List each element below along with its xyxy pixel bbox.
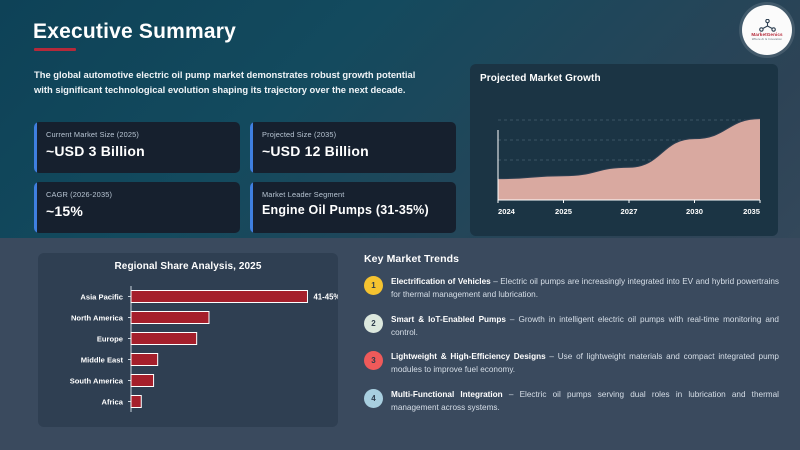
metric-value: Engine Oil Pumps (31-35%) bbox=[262, 203, 456, 217]
trend-text: Smart & IoT-Enabled Pumps – Growth in in… bbox=[391, 313, 779, 340]
company-logo: MarketGenics Where Ai Is Innovation bbox=[742, 5, 792, 55]
svg-text:2024: 2024 bbox=[498, 207, 516, 216]
trend-number-badge: 2 bbox=[364, 314, 383, 333]
trends-title: Key Market Trends bbox=[364, 253, 784, 265]
projected-market-growth-panel: Projected Market Growth 2024202520272030… bbox=[470, 64, 778, 236]
metric-value: ~USD 3 Billion bbox=[46, 143, 240, 159]
growth-chart-title: Projected Market Growth bbox=[480, 73, 768, 84]
trend-item: 3Lightweight & High-Efficiency Designs –… bbox=[364, 350, 784, 377]
svg-text:2030: 2030 bbox=[686, 207, 703, 216]
trend-number-badge: 1 bbox=[364, 276, 383, 295]
title-underline-accent bbox=[34, 48, 76, 51]
trend-title: Smart & IoT-Enabled Pumps bbox=[391, 315, 506, 324]
regional-chart-title: Regional Share Analysis, 2025 bbox=[38, 261, 338, 272]
svg-text:2025: 2025 bbox=[555, 207, 573, 216]
svg-text:41-45%: 41-45% bbox=[313, 293, 338, 302]
page-title: Executive Summary bbox=[33, 20, 236, 44]
metric-label: Current Market Size (2025) bbox=[46, 130, 240, 139]
trend-number-badge: 3 bbox=[364, 351, 383, 370]
logo-tagline: Where Ai Is Innovation bbox=[752, 38, 782, 41]
regional-bar-chart: Asia Pacific41-45%North AmericaEuropeMid… bbox=[38, 280, 338, 420]
metric-card-row-1: Current Market Size (2025) ~USD 3 Billio… bbox=[34, 122, 456, 173]
trend-item: 1Electrification of Vehicles – Electric … bbox=[364, 275, 784, 302]
metric-card-projected-size: Projected Size (2035) ~USD 12 Billion bbox=[250, 122, 456, 173]
svg-text:Asia Pacific: Asia Pacific bbox=[80, 293, 123, 302]
trend-item: 2Smart & IoT-Enabled Pumps – Growth in i… bbox=[364, 313, 784, 340]
svg-text:North America: North America bbox=[71, 314, 124, 323]
trend-item: 4Multi-Functional Integration – Electric… bbox=[364, 388, 784, 415]
metric-cards: Current Market Size (2025) ~USD 3 Billio… bbox=[34, 122, 456, 242]
trend-text: Multi-Functional Integration – Electric … bbox=[391, 388, 779, 415]
trend-text: Electrification of Vehicles – Electric o… bbox=[391, 275, 779, 302]
trend-text: Lightweight & High-Efficiency Designs – … bbox=[391, 350, 779, 377]
network-node-icon bbox=[759, 19, 776, 33]
trend-title: Lightweight & High-Efficiency Designs bbox=[391, 352, 546, 361]
trend-title: Electrification of Vehicles bbox=[391, 277, 491, 286]
regional-share-panel: Regional Share Analysis, 2025 Asia Pacif… bbox=[38, 253, 338, 427]
svg-text:South America: South America bbox=[70, 377, 124, 386]
trend-title: Multi-Functional Integration bbox=[391, 390, 503, 399]
svg-text:2035: 2035 bbox=[743, 207, 761, 216]
metric-card-market-leader-segment: Market Leader Segment Engine Oil Pumps (… bbox=[250, 182, 456, 233]
trend-number-badge: 4 bbox=[364, 389, 383, 408]
svg-text:Middle East: Middle East bbox=[81, 356, 124, 365]
metric-label: Projected Size (2035) bbox=[262, 130, 456, 139]
svg-text:Europe: Europe bbox=[97, 335, 123, 344]
metric-value: ~USD 12 Billion bbox=[262, 143, 456, 159]
trend-list: 1Electrification of Vehicles – Electric … bbox=[364, 275, 784, 414]
metric-label: CAGR (2026-2035) bbox=[46, 190, 240, 199]
metric-card-current-market-size: Current Market Size (2025) ~USD 3 Billio… bbox=[34, 122, 240, 173]
metric-card-cagr: CAGR (2026-2035) ~15% bbox=[34, 182, 240, 233]
metric-value: ~15% bbox=[46, 203, 240, 219]
svg-text:2027: 2027 bbox=[621, 207, 638, 216]
metric-label: Market Leader Segment bbox=[262, 190, 456, 199]
intro-paragraph: The global automotive electric oil pump … bbox=[34, 68, 434, 97]
growth-area-chart: 20242025202720302035 bbox=[480, 94, 768, 222]
key-market-trends: Key Market Trends 1Electrification of Ve… bbox=[364, 253, 784, 425]
svg-text:Africa: Africa bbox=[101, 398, 123, 407]
metric-card-row-2: CAGR (2026-2035) ~15% Market Leader Segm… bbox=[34, 182, 456, 233]
